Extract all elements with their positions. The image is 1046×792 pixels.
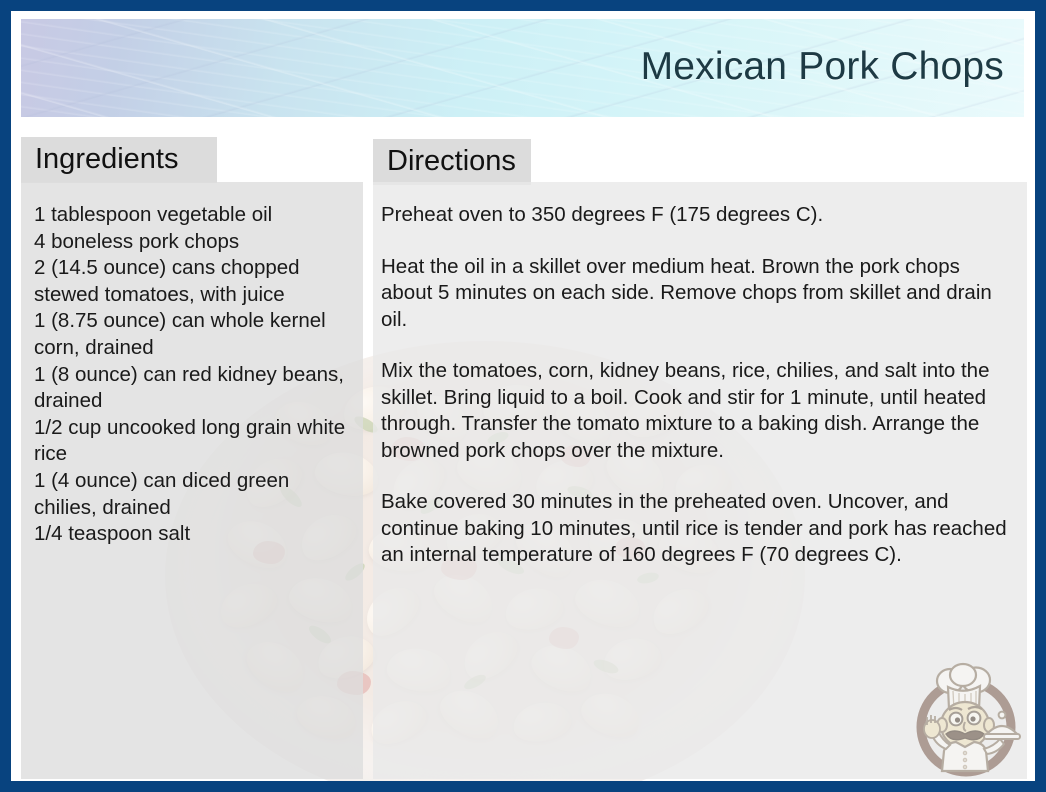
- title-banner: Mexican Pork Chops: [21, 19, 1024, 117]
- recipe-card: Mexican Pork Chops Ingredients 1 tablesp…: [0, 0, 1046, 792]
- ingredients-heading-tab: Ingredients: [21, 137, 217, 183]
- recipe-title: Mexican Pork Chops: [641, 45, 1004, 89]
- chef-with-cloche-logo: [904, 659, 1028, 781]
- list-item: 1 (4 ounce) can diced green chilies, dra…: [34, 468, 351, 521]
- list-item: 1 (8 ounce) can red kidney beans, draine…: [34, 362, 351, 415]
- list-item: 1/2 cup uncooked long grain white rice: [34, 415, 351, 468]
- directions-heading-tab: Directions: [373, 139, 531, 185]
- ingredients-panel: 1 tablespoon vegetable oil 4 boneless po…: [21, 182, 363, 779]
- direction-step: Heat the oil in a skillet over medium he…: [381, 254, 1013, 334]
- direction-step: Mix the tomatoes, corn, kidney beans, ri…: [381, 358, 1013, 464]
- list-item: 1 tablespoon vegetable oil: [34, 202, 351, 229]
- direction-step: Bake covered 30 minutes in the preheated…: [381, 489, 1013, 569]
- direction-step: Preheat oven to 350 degrees F (175 degre…: [381, 202, 1013, 229]
- list-item: 1 (8.75 ounce) can whole kernel corn, dr…: [34, 308, 351, 361]
- list-item: 4 boneless pork chops: [34, 229, 351, 256]
- list-item: 1/4 teaspoon salt: [34, 521, 351, 548]
- recipe-page: Mexican Pork Chops Ingredients 1 tablesp…: [11, 11, 1035, 781]
- ingredients-list: 1 tablespoon vegetable oil 4 boneless po…: [34, 202, 351, 548]
- list-item: 2 (14.5 ounce) cans chopped stewed tomat…: [34, 255, 351, 308]
